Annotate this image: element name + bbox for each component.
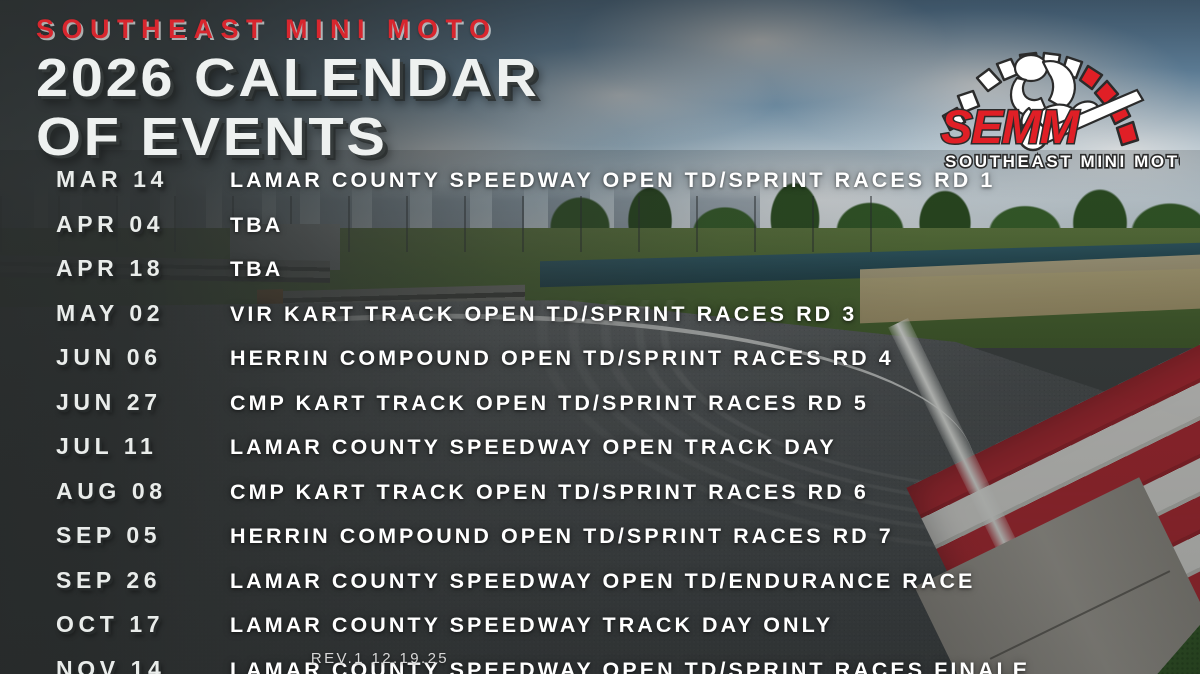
- page-title-line-1: 2026 CALENDAR: [36, 52, 540, 105]
- event-description: HERRIN COMPOUND OPEN TD/SPRINT RACES RD …: [230, 346, 894, 371]
- revision-stamp: REV.1 12.19.25: [0, 650, 760, 667]
- event-row: SEP 26LAMAR COUNTY SPEEDWAY OPEN TD/ENDU…: [0, 567, 1200, 612]
- event-date: MAR 14: [0, 166, 230, 193]
- event-description: CMP KART TRACK OPEN TD/SPRINT RACES RD 6: [230, 480, 869, 505]
- event-date: APR 18: [0, 255, 230, 282]
- event-date: OCT 17: [0, 611, 230, 638]
- logo-wordmark: SEMM: [941, 100, 1080, 153]
- calendar-poster: SOUTHEAST MINI MOTO 2026 CALENDAR OF EVE…: [0, 0, 1200, 674]
- event-row: JUL 11LAMAR COUNTY SPEEDWAY OPEN TRACK D…: [0, 433, 1200, 478]
- event-description: TBA: [230, 213, 283, 238]
- headline-block: SOUTHEAST MINI MOTO 2026 CALENDAR OF EVE…: [36, 16, 507, 164]
- event-row: OCT 17LAMAR COUNTY SPEEDWAY TRACK DAY ON…: [0, 611, 1200, 656]
- event-date: JUN 27: [0, 389, 230, 416]
- brand-kicker: SOUTHEAST MINI MOTO: [36, 16, 507, 43]
- event-row: AUG 08CMP KART TRACK OPEN TD/SPRINT RACE…: [0, 478, 1200, 523]
- event-date: MAY 02: [0, 300, 230, 327]
- event-description: TBA: [230, 257, 283, 282]
- event-description: LAMAR COUNTY SPEEDWAY OPEN TD/SPRINT RAC…: [230, 168, 995, 193]
- event-row: APR 04TBA: [0, 211, 1200, 256]
- event-description: VIR KART TRACK OPEN TD/SPRINT RACES RD 3: [230, 302, 857, 327]
- event-description: LAMAR COUNTY SPEEDWAY OPEN TD/ENDURANCE …: [230, 569, 975, 594]
- event-date: AUG 08: [0, 478, 230, 505]
- event-row: JUN 27CMP KART TRACK OPEN TD/SPRINT RACE…: [0, 389, 1200, 434]
- poster-content: SOUTHEAST MINI MOTO 2026 CALENDAR OF EVE…: [0, 0, 1200, 674]
- event-date: JUL 11: [0, 433, 230, 460]
- event-date: SEP 05: [0, 522, 230, 549]
- event-description: LAMAR COUNTY SPEEDWAY OPEN TRACK DAY: [230, 435, 837, 460]
- event-date: JUN 06: [0, 344, 230, 371]
- event-row: MAR 14LAMAR COUNTY SPEEDWAY OPEN TD/SPRI…: [0, 166, 1200, 211]
- page-title-line-2: OF EVENTS: [36, 111, 540, 164]
- event-row: MAY 02VIR KART TRACK OPEN TD/SPRINT RACE…: [0, 300, 1200, 345]
- event-row: APR 18TBA: [0, 255, 1200, 300]
- event-date: SEP 26: [0, 567, 230, 594]
- event-description: LAMAR COUNTY SPEEDWAY TRACK DAY ONLY: [230, 613, 833, 638]
- events-table: MAR 14LAMAR COUNTY SPEEDWAY OPEN TD/SPRI…: [0, 166, 1200, 674]
- event-description: HERRIN COMPOUND OPEN TD/SPRINT RACES RD …: [230, 524, 894, 549]
- event-row: JUN 06HERRIN COMPOUND OPEN TD/SPRINT RAC…: [0, 344, 1200, 389]
- event-row: SEP 05HERRIN COMPOUND OPEN TD/SPRINT RAC…: [0, 522, 1200, 567]
- event-description: CMP KART TRACK OPEN TD/SPRINT RACES RD 5: [230, 391, 869, 416]
- semm-logo: SEMM SOUTHEAST MINI MOTO: [925, 12, 1180, 174]
- event-date: APR 04: [0, 211, 230, 238]
